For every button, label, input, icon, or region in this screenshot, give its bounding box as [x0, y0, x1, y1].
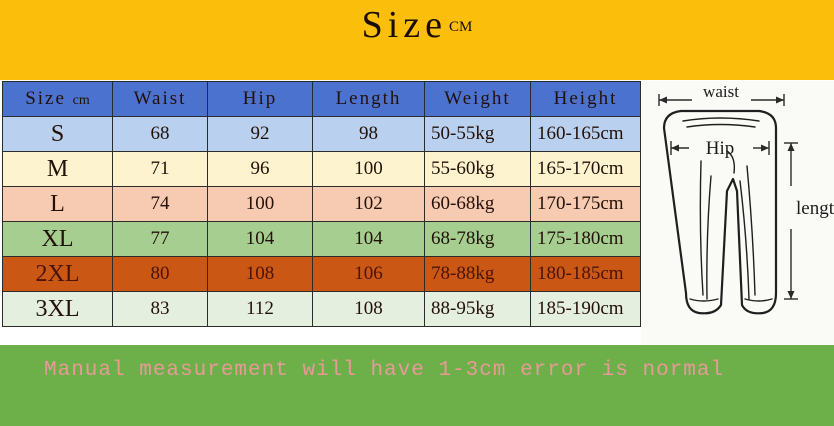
- waist-label: waist: [703, 82, 739, 101]
- size-chart-page: SizeCM Size cm Waist Hip Length Weight H…: [0, 0, 834, 426]
- cell-hip: 96: [208, 152, 313, 187]
- table-row: L 74 100 102 60-68kg 170-175cm: [3, 187, 641, 222]
- cell-size: 3XL: [3, 292, 113, 327]
- table-row: S 68 92 98 50-55kg 160-165cm: [3, 117, 641, 152]
- cell-length: 98: [313, 117, 425, 152]
- cell-length: 102: [313, 187, 425, 222]
- cell-waist: 77: [113, 222, 208, 257]
- page-title: Size: [362, 4, 447, 46]
- cell-hip: 104: [208, 222, 313, 257]
- cell-height: 180-185cm: [531, 257, 641, 292]
- cell-length: 108: [313, 292, 425, 327]
- cell-waist: 68: [113, 117, 208, 152]
- hip-label: Hip: [706, 138, 735, 159]
- table-header-row: Size cm Waist Hip Length Weight Height: [3, 82, 641, 117]
- column-header-height: Height: [531, 82, 641, 117]
- measurement-note: Manual measurement will have 1-3cm error…: [44, 359, 724, 382]
- table-row: 2XL 80 108 106 78-88kg 180-185cm: [3, 257, 641, 292]
- cell-weight: 68-78kg: [425, 222, 531, 257]
- table-header: Size cm Waist Hip Length Weight Height: [3, 82, 641, 117]
- cell-hip: 100: [208, 187, 313, 222]
- pants-diagram: waist: [641, 81, 834, 345]
- table-row: XL 77 104 104 68-78kg 175-180cm: [3, 222, 641, 257]
- column-header-size-label: Size: [25, 88, 66, 109]
- size-table-wrapper: Size cm Waist Hip Length Weight Height S…: [2, 81, 640, 345]
- cell-weight: 55-60kg: [425, 152, 531, 187]
- cell-weight: 78-88kg: [425, 257, 531, 292]
- column-header-size-unit: cm: [73, 93, 90, 108]
- column-header-waist: Waist: [113, 82, 208, 117]
- cell-weight: 60-68kg: [425, 187, 531, 222]
- cell-hip: 108: [208, 257, 313, 292]
- footer-band: [0, 345, 834, 426]
- cell-length: 104: [313, 222, 425, 257]
- column-header-size: Size cm: [3, 82, 113, 117]
- title-band: SizeCM: [0, 0, 834, 80]
- cell-size: S: [3, 117, 113, 152]
- table-row: M 71 96 100 55-60kg 165-170cm: [3, 152, 641, 187]
- cell-length: 100: [313, 152, 425, 187]
- cell-size: XL: [3, 222, 113, 257]
- cell-waist: 71: [113, 152, 208, 187]
- cell-size: L: [3, 187, 113, 222]
- cell-weight: 50-55kg: [425, 117, 531, 152]
- title-wrap: SizeCM: [0, 6, 834, 44]
- cell-height: 185-190cm: [531, 292, 641, 327]
- length-label: length: [796, 198, 834, 219]
- table-body: S 68 92 98 50-55kg 160-165cm M 71 96 100…: [3, 117, 641, 327]
- cell-height: 170-175cm: [531, 187, 641, 222]
- cell-waist: 83: [113, 292, 208, 327]
- length-dimension-line: [784, 143, 798, 299]
- column-header-weight: Weight: [425, 82, 531, 117]
- cell-height: 165-170cm: [531, 152, 641, 187]
- column-header-hip: Hip: [208, 82, 313, 117]
- cell-hip: 92: [208, 117, 313, 152]
- column-header-length: Length: [313, 82, 425, 117]
- size-table: Size cm Waist Hip Length Weight Height S…: [2, 81, 641, 327]
- cell-size: 2XL: [3, 257, 113, 292]
- cell-weight: 88-95kg: [425, 292, 531, 327]
- cell-size: M: [3, 152, 113, 187]
- pants-diagram-panel: waist: [641, 81, 834, 345]
- page-title-unit: CM: [449, 19, 472, 35]
- table-row: 3XL 83 112 108 88-95kg 185-190cm: [3, 292, 641, 327]
- cell-height: 160-165cm: [531, 117, 641, 152]
- cell-waist: 74: [113, 187, 208, 222]
- cell-waist: 80: [113, 257, 208, 292]
- cell-length: 106: [313, 257, 425, 292]
- cell-height: 175-180cm: [531, 222, 641, 257]
- cell-hip: 112: [208, 292, 313, 327]
